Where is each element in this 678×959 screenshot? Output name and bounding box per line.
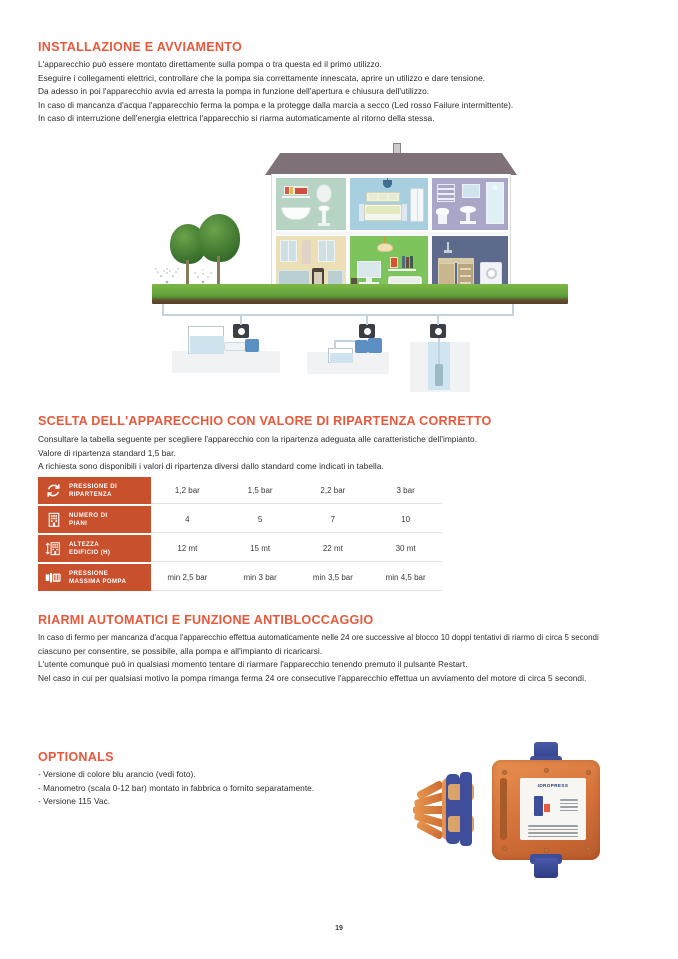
table-row: ALTEZZAEDIFICIO (H) 12 mt 15 mt 22 mt 30… xyxy=(38,535,442,562)
ground-grass-strip xyxy=(152,284,568,304)
pipe-to-controller-1 xyxy=(240,316,242,325)
section-body-installazione: L'apparecchio può essere montato diretta… xyxy=(38,58,513,126)
table-row-label-text: PRESSIONEMASSIMA POMPA xyxy=(69,570,126,585)
section-title-optionals: OPTIONALS xyxy=(38,750,114,764)
screw-top-center xyxy=(544,768,549,773)
pump-housing-1 xyxy=(224,342,246,351)
table-row-label-text: PRESSIONE DIRIPARTENZA xyxy=(69,483,117,498)
pipe-to-controller-2 xyxy=(366,316,368,325)
pump-motor-2a xyxy=(355,340,368,353)
table-cell: 12 mt xyxy=(151,535,224,561)
label-diagram-accent xyxy=(544,804,550,812)
body-vent-slot xyxy=(500,778,507,840)
house-cutaway-illustration xyxy=(152,136,568,392)
pump-motor-1 xyxy=(245,339,259,352)
page-number: 19 xyxy=(0,925,678,932)
section-title-installazione: INSTALLAZIONE E AVVIAMENTO xyxy=(38,40,242,54)
table-cell: 1,2 bar xyxy=(151,477,224,503)
sprinkler-right xyxy=(192,266,214,284)
table-cell: 4 xyxy=(151,506,224,532)
screw-bottom-right xyxy=(586,846,591,851)
table-row-values: 12 mt 15 mt 22 mt 30 mt xyxy=(151,535,442,562)
table-cell: 7 xyxy=(297,506,370,532)
table-cell: min 3 bar xyxy=(224,564,297,590)
table-row-label: NUMERO DIPIANI xyxy=(38,506,151,533)
body-line: In caso di fermo per mancanza d'acqua l'… xyxy=(38,631,599,645)
screw-top-right xyxy=(586,770,591,775)
body-line: Da adesso in poi l'apparecchio avvia ed … xyxy=(38,85,513,99)
ripartenza-selection-table: PRESSIONE DIRIPARTENZA 1,2 bar 1,5 bar 2… xyxy=(38,477,442,591)
section-title-scelta: SCELTA DELL'APPARECCHIO CON VALORE DI RI… xyxy=(38,414,492,428)
table-row-label-text: NUMERO DIPIANI xyxy=(69,512,107,527)
body-line: - Versione di colore blu arancio (vedi f… xyxy=(38,768,314,782)
pipe-riser-house-right xyxy=(512,304,514,316)
table-row-values: 4 5 7 10 xyxy=(151,506,442,533)
body-line: In caso di interruzione dell'energia ele… xyxy=(38,112,513,126)
room-living-lower-center xyxy=(350,236,428,290)
body-line: Valore di ripartenza standard 1,5 bar. xyxy=(38,447,477,461)
table-row-label: PRESSIONEMASSIMA POMPA xyxy=(38,564,151,591)
label-spec-lines-bottom xyxy=(524,823,582,840)
submersible-pump xyxy=(435,364,443,386)
section-body-riarmi: In caso di fermo per mancanza d'acqua l'… xyxy=(38,631,599,685)
body-line: In caso di mancanza d'acqua l'apparecchi… xyxy=(38,99,513,113)
room-laundry-lower-left xyxy=(276,236,346,290)
body-line: Nel caso in cui per qualsiasi motivo la … xyxy=(38,672,599,686)
inlet-nipple-bottom xyxy=(534,858,558,878)
body-line: Eseguire i collegamenti elettrici, contr… xyxy=(38,72,513,86)
label-spec-lines-right xyxy=(556,797,582,814)
table-row-label-text: ALTEZZAEDIFICIO (H) xyxy=(69,541,110,556)
pump-motor-icon xyxy=(45,569,62,586)
body-line: ciascuno per consentire, se possibile, a… xyxy=(38,645,599,659)
pressure-controller-unit-1 xyxy=(233,324,249,338)
table-cell: 15 mt xyxy=(224,535,297,561)
table-cell: 30 mt xyxy=(369,535,442,561)
body-line: L'apparecchio può essere montato diretta… xyxy=(38,58,513,72)
pressure-controller-unit-2 xyxy=(359,324,375,338)
table-row: PRESSIONEMASSIMA POMPA min 2,5 bar min 3… xyxy=(38,564,442,591)
pressure-controller-unit-3 xyxy=(430,324,446,338)
room-bathroom-upper-right xyxy=(432,178,508,230)
table-row-values: min 2,5 bar min 3 bar min 3,5 bar min 4,… xyxy=(151,564,442,591)
cistern xyxy=(328,348,353,363)
product-brand-text: IDROPRESS xyxy=(520,783,586,788)
body-line: Consultare la tabella seguente per scegl… xyxy=(38,433,477,447)
pipe-to-controller-3 xyxy=(437,316,439,325)
drop-pipe-3 xyxy=(438,338,440,366)
pressure-controller-photo: IDROPRESS xyxy=(404,742,636,878)
table-cell: 10 xyxy=(369,506,442,532)
roof xyxy=(265,153,517,175)
section-title-riarmi: RIARMI AUTOMATICI E FUNZIONE ANTIBLOCCAG… xyxy=(38,613,373,627)
table-cell: 2,2 bar xyxy=(297,477,370,503)
screw-top-left xyxy=(502,770,507,775)
body-line: - Versione 115 Vac. xyxy=(38,795,314,809)
table-cell: min 2,5 bar xyxy=(151,564,224,590)
house-walls xyxy=(271,174,511,295)
water-tank xyxy=(188,326,224,354)
table-row: PRESSIONE DIRIPARTENZA 1,2 bar 1,5 bar 2… xyxy=(38,477,442,504)
section-body-scelta: Consultare la tabella seguente per scegl… xyxy=(38,433,477,474)
product-label: IDROPRESS xyxy=(520,778,586,840)
room-kitchen-lower-right xyxy=(432,236,508,290)
pump-motor-2b xyxy=(368,338,382,353)
screw-bottom-left xyxy=(502,846,507,851)
installation-1-shadow xyxy=(172,351,280,373)
table-row-values: 1,2 bar 1,5 bar 2,2 bar 3 bar xyxy=(151,477,442,504)
main-water-pipe xyxy=(162,314,514,316)
building-height-arrow-icon xyxy=(45,540,62,557)
suction-pipe-2b xyxy=(334,340,356,342)
document-page: INSTALLAZIONE E AVVIAMENTO L'apparecchio… xyxy=(0,0,678,959)
table-cell: min 3,5 bar xyxy=(297,564,370,590)
label-diagram-icon xyxy=(534,796,543,816)
sprinkler-left xyxy=(154,264,180,284)
table-cell: 3 bar xyxy=(369,477,442,503)
restart-circular-arrow-icon xyxy=(45,482,62,499)
room-bedroom-upper-center xyxy=(350,178,428,230)
body-line: - Manometro (scala 0-12 bar) montato in … xyxy=(38,782,314,796)
body-line: L'utente comunque può in qualsiasi momen… xyxy=(38,658,599,672)
body-line: A richiesta sono disponibili i valori di… xyxy=(38,460,477,474)
screw-bottom-center xyxy=(544,848,549,853)
building-icon xyxy=(45,511,62,528)
table-cell: 5 xyxy=(224,506,297,532)
house-cutaway xyxy=(265,143,517,295)
room-bathroom-upper-left xyxy=(276,178,346,230)
table-cell: 22 mt xyxy=(297,535,370,561)
table-row: NUMERO DIPIANI 4 5 7 10 xyxy=(38,506,442,533)
table-row-label: PRESSIONE DIRIPARTENZA xyxy=(38,477,151,504)
table-row-label: ALTEZZAEDIFICIO (H) xyxy=(38,535,151,562)
floor-divider xyxy=(276,232,508,235)
pipe-riser-house-left xyxy=(162,304,164,316)
table-cell: 1,5 bar xyxy=(224,477,297,503)
cooling-fins xyxy=(416,772,500,846)
section-body-optionals: - Versione di colore blu arancio (vedi f… xyxy=(38,768,314,809)
table-cell: min 4,5 bar xyxy=(369,564,442,590)
